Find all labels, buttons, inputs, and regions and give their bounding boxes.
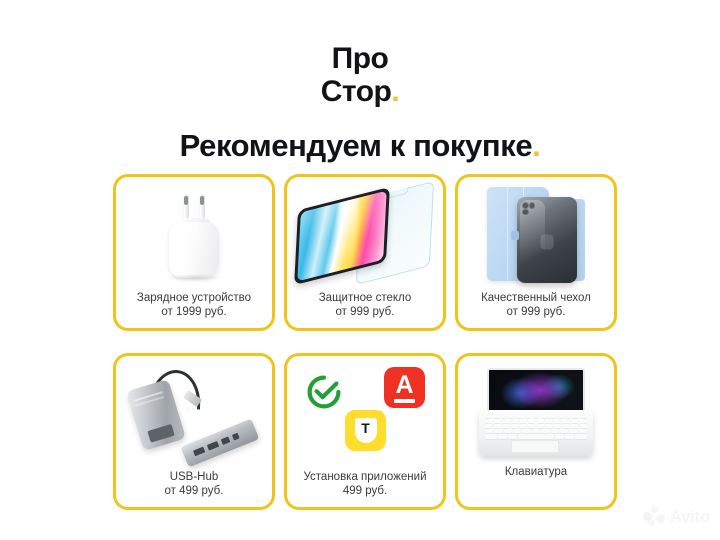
app-install-caption: Установка приложений 499 руб. [287,470,443,507]
app-install-price: 499 руб. [287,484,443,498]
avito-watermark: Avito [643,506,710,528]
tinkoff-icon: Т [345,410,386,451]
usb-hub-image [116,356,272,470]
charger-price: от 1999 руб. [116,305,272,319]
screen-protector-title: Защитное стекло [287,291,443,305]
folio-case-icon [481,185,591,285]
brand-line-2: Стор. [0,77,720,107]
case-image [458,177,614,291]
tinkoff-letter: Т [361,421,370,435]
avito-wordmark: Avito [670,507,710,527]
brand-line-2-text: Стор [321,75,392,108]
page-title-accent-dot: . [532,128,540,163]
page-title-text: Рекомендуем к покупке [180,128,533,163]
case-price: от 999 руб. [458,305,614,319]
sber-icon [305,373,343,411]
usb-hub-caption: USB-Hub от 499 руб. [116,470,272,507]
app-install-image: А Т [287,356,443,470]
usb-hub-price: от 499 руб. [116,484,272,498]
product-grid: Зарядное устройство от 1999 руб. Защитно… [113,174,618,510]
keyboard-caption: Клавиатура [458,465,614,507]
brand-accent-dot: . [391,75,399,108]
usb-hub-icon [128,368,260,460]
tinkoff-shield: Т [355,418,377,443]
keyboard-title: Клавиатура [458,465,614,479]
poster-root: Про Стор. Рекомендуем к покупке. Зарядно… [0,0,720,540]
product-card-screen-protector[interactable]: Защитное стекло от 999 руб. [284,174,446,331]
keyboard-image [458,356,614,465]
magic-keyboard-icon [477,366,595,458]
charger-image [116,177,272,291]
charger-title: Зарядное устройство [116,291,272,305]
product-card-keyboard[interactable]: Клавиатура [455,353,617,510]
bank-app-icon-group: А Т [299,367,431,463]
usb-c-charger-icon [163,194,225,278]
product-card-app-install[interactable]: А Т Установка приложений 499 руб. [284,353,446,510]
product-card-usb-hub[interactable]: USB-Hub от 499 руб. [113,353,275,510]
screen-protector-image [287,177,443,291]
case-caption: Качественный чехол от 999 руб. [458,291,614,328]
brand-line-1: Про [0,44,720,74]
usb-hub-title: USB-Hub [116,470,272,484]
app-install-title: Установка приложений [287,470,443,484]
page-title: Рекомендуем к покупке. [0,128,720,164]
product-card-charger[interactable]: Зарядное устройство от 1999 руб. [113,174,275,331]
alfabank-letter: А [395,373,413,397]
tempered-glass-icon [294,189,436,281]
alfabank-icon: А [384,367,425,408]
avito-logo-icon [643,506,665,528]
alfabank-underline [394,399,415,402]
charger-caption: Зарядное устройство от 1999 руб. [116,291,272,328]
case-title: Качественный чехол [458,291,614,305]
brand-logo: Про Стор. [0,44,720,107]
screen-protector-price: от 999 руб. [287,305,443,319]
product-card-case[interactable]: Качественный чехол от 999 руб. [455,174,617,331]
camera-lens-icon [522,202,536,215]
screen-protector-caption: Защитное стекло от 999 руб. [287,291,443,328]
trackpad [511,440,559,453]
